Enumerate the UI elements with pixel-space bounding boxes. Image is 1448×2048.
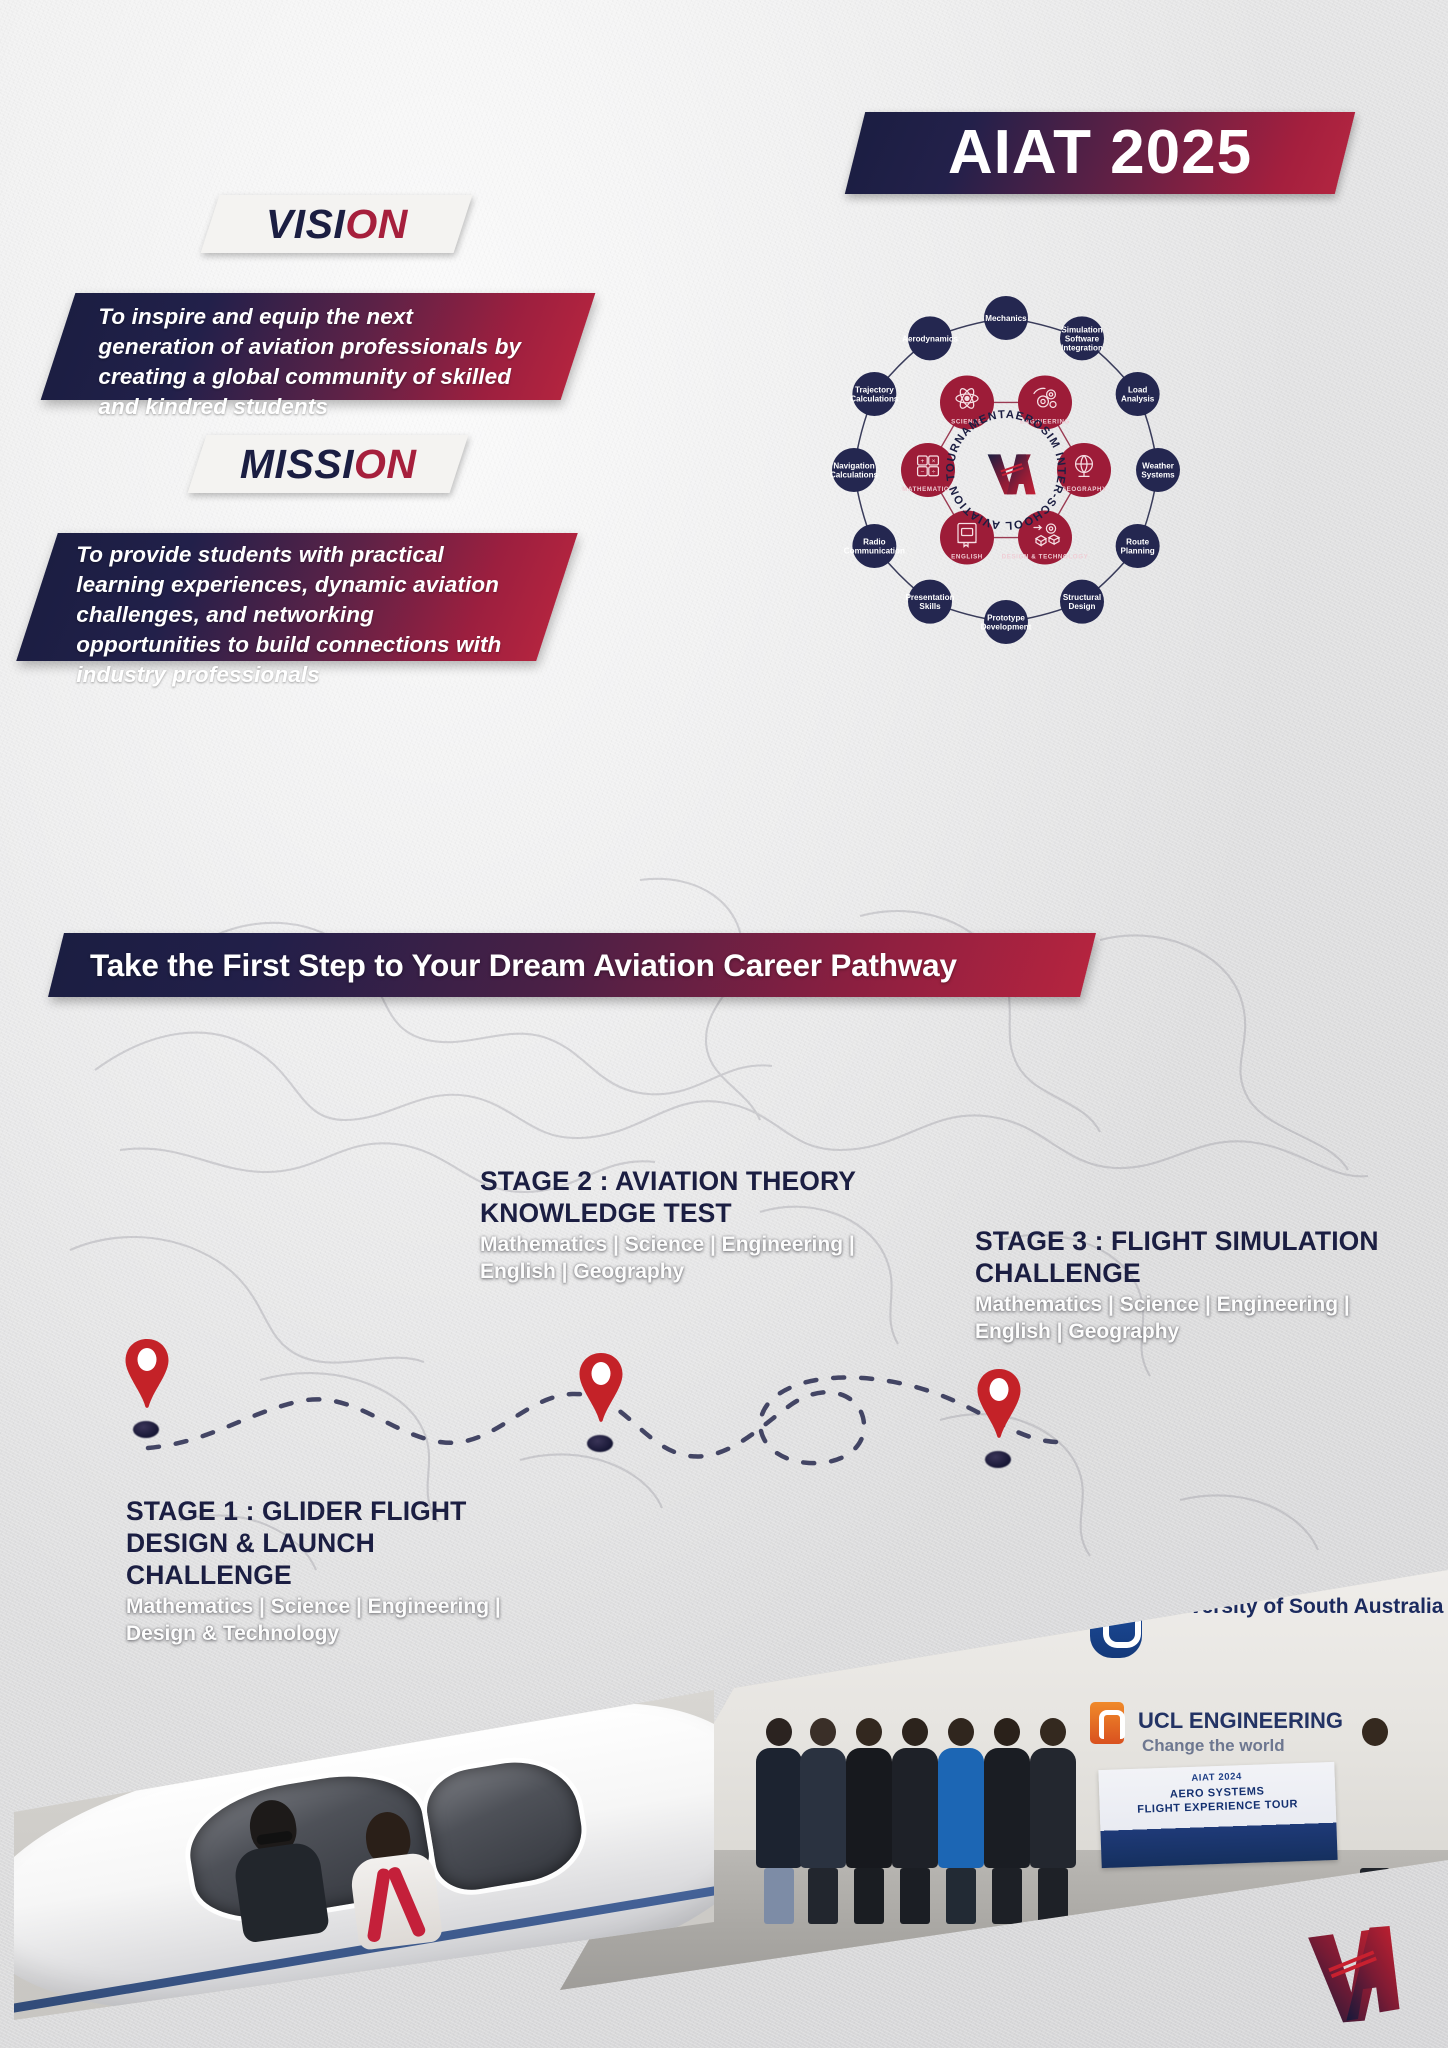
stage-2-marker-dot — [587, 1435, 613, 1452]
poster-title: AIAT 2025 — [855, 112, 1345, 194]
subject-label: MATHEMATICS — [902, 486, 953, 493]
sponsor-name: UCL ENGINEERING — [1138, 1708, 1343, 1734]
cta-banner: Take the First Step to Your Dream Aviati… — [48, 933, 1096, 997]
mission-heading: MISSION — [240, 441, 417, 488]
stage-1-title: STAGE 1 : GLIDER FLIGHT DESIGN & LAUNCH … — [126, 1495, 546, 1591]
subject-label: DESIGN & TECHNOLOGY — [1002, 554, 1089, 561]
outer-node-label: StructuralDesign — [1063, 593, 1101, 611]
person — [938, 1718, 984, 1924]
poster-title-banner: AIAT 2025 — [845, 112, 1355, 194]
stage-2-subjects: Mathematics | Science | Engineering | En… — [480, 1231, 900, 1285]
outer-node-weather-systems[interactable]: WeatherSystems — [1136, 448, 1180, 492]
stage-3-title: STAGE 3 : FLIGHT SIMULATION CHALLENGE — [975, 1225, 1405, 1289]
outer-node-label: Aerodynamics — [902, 334, 958, 343]
outer-node-simulation-software-integration[interactable]: SimulationSoftwareIntegration — [1060, 316, 1104, 360]
vision-heading-primary: VISI — [266, 201, 345, 247]
stage-2-block: STAGE 2 : AVIATION THEORY KNOWLEDGE TEST… — [480, 1165, 900, 1285]
outer-node-structural-design[interactable]: StructuralDesign — [1060, 580, 1104, 624]
outer-node-trajectory-calculations[interactable]: TrajectoryCalculations — [850, 372, 899, 416]
outer-node-label: SimulationSoftwareIntegration — [1061, 326, 1103, 353]
mission-panel: To provide students with practical learn… — [16, 533, 578, 661]
svg-text:+: + — [920, 458, 924, 465]
instructor-torso — [232, 1840, 330, 1943]
person — [1030, 1718, 1076, 1924]
person — [984, 1718, 1030, 1924]
vision-text: To inspire and equip the next generation… — [98, 302, 530, 422]
subject-label: GEOGRAPHY — [1061, 486, 1107, 493]
outer-node-presentation-skills[interactable]: PresentationSkills — [905, 580, 954, 624]
person — [892, 1718, 938, 1924]
svg-text:÷: ÷ — [932, 469, 936, 476]
stage-3-block: STAGE 3 : FLIGHT SIMULATION CHALLENGE Ma… — [975, 1225, 1405, 1345]
vision-heading: VISION — [266, 201, 408, 248]
safety-harness — [362, 1862, 432, 1939]
vision-panel: To inspire and equip the next generation… — [41, 293, 596, 400]
outer-node-mechanics[interactable]: Mechanics — [984, 296, 1028, 340]
vision-heading-accent: ON — [345, 201, 408, 247]
outer-node-prototype-development[interactable]: PrototypeDevelopment — [981, 600, 1032, 644]
outer-node-load-analysis[interactable]: LoadAnalysis — [1116, 372, 1160, 416]
outer-node-label: NavigationCalculations — [830, 462, 879, 480]
sponsor-logo-icon — [1090, 1702, 1124, 1744]
svg-text:×: × — [932, 458, 936, 465]
stage-1-pin — [124, 1338, 170, 1438]
outer-node-label: RadioCommunication — [844, 538, 905, 556]
stage-2-title: STAGE 2 : AVIATION THEORY KNOWLEDGE TEST — [480, 1165, 900, 1229]
outer-node-route-planning[interactable]: RoutePlanning — [1116, 524, 1160, 568]
subject-label: ENGLISH — [951, 554, 983, 561]
vision-heading-tab: VISION — [201, 195, 473, 253]
svg-text:−: − — [920, 469, 924, 476]
sponsor-tagline: Change the world — [1142, 1736, 1285, 1756]
aerosim-a-logo-center — [988, 454, 1036, 494]
outer-node-navigation-calculations[interactable]: NavigationCalculations — [830, 448, 879, 492]
subject-wheel-diagram: MechanicsSimulationSoftwareIntegrationLo… — [806, 258, 1206, 678]
aerosim-a-logo-footer — [1302, 1916, 1404, 2024]
map-pin-icon — [124, 1338, 170, 1410]
outer-node-label: TrajectoryCalculations — [850, 386, 899, 404]
mission-heading-accent: ON — [354, 441, 417, 487]
cta-text: Take the First Step to Your Dream Aviati… — [56, 933, 1088, 997]
stage-2-pin — [578, 1352, 624, 1452]
stage-1-block: STAGE 1 : GLIDER FLIGHT DESIGN & LAUNCH … — [126, 1495, 546, 1647]
stage-3-subjects: Mathematics | Science | Engineering | En… — [975, 1291, 1405, 1345]
person — [756, 1718, 802, 1924]
outer-node-label: WeatherSystems — [1141, 462, 1175, 480]
map-pin-icon — [976, 1368, 1022, 1440]
map-pin-icon — [578, 1352, 624, 1424]
outer-node-radio-communication[interactable]: RadioCommunication — [844, 524, 905, 568]
outer-node-label: PrototypeDevelopment — [981, 614, 1032, 632]
mission-text: To provide students with practical learn… — [76, 540, 508, 690]
mission-heading-tab: MISSION — [188, 435, 469, 493]
stage-3-pin — [976, 1368, 1022, 1468]
mission-heading-primary: MISSI — [240, 441, 354, 487]
stage-1-subjects: Mathematics | Science | Engineering | De… — [126, 1593, 546, 1647]
stage-1-marker-dot — [133, 1421, 159, 1438]
event-banner: AIAT 2024 AERO SYSTEMS FLIGHT EXPERIENCE… — [1098, 1762, 1337, 1868]
person — [846, 1718, 892, 1924]
outer-node-label: Mechanics — [985, 314, 1027, 323]
stage-3-marker-dot — [985, 1451, 1011, 1468]
person — [800, 1718, 846, 1924]
